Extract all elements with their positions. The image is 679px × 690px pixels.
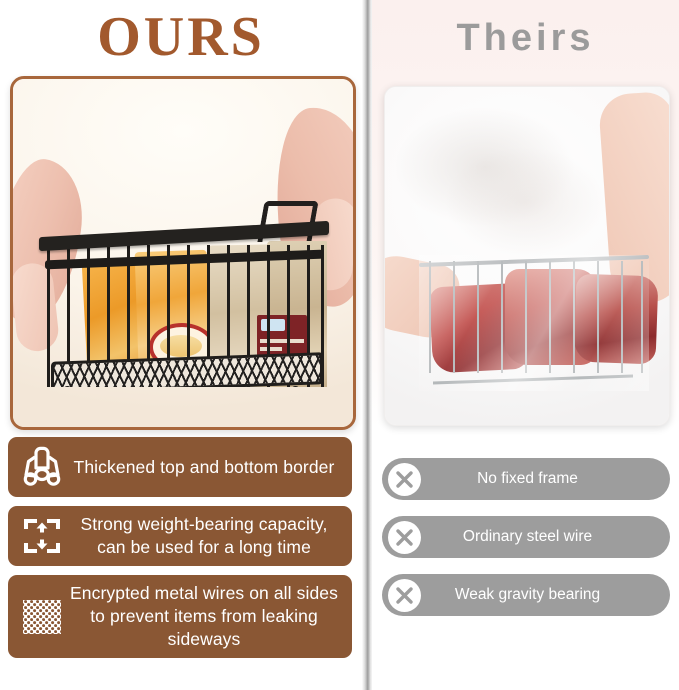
feature-row-thickened-border: Thickened top and bottom border <box>8 437 352 497</box>
plastic-wrap-sheen <box>419 255 649 391</box>
x-circle-icon <box>388 463 421 496</box>
feature-row-weight-bearing: Strong weight-bearing capacity, can be u… <box>8 506 352 566</box>
black-wire-basket <box>39 229 329 397</box>
wire-mesh-icon <box>16 594 68 640</box>
x-circle-icon <box>388 579 421 612</box>
background-blur-2 <box>445 147 605 257</box>
silver-wire-basket <box>419 255 649 391</box>
drawback-row-ordinary-steel-wire: Ordinary steel wire <box>382 516 670 558</box>
feature-label: Thickened top and bottom border <box>68 456 342 479</box>
thick-border-icon <box>16 444 68 490</box>
drawback-row-weak-gravity-bearing: Weak gravity bearing <box>382 574 670 616</box>
feature-row-encrypted-wires: Encrypted metal wires on all sides to pr… <box>8 575 352 658</box>
drawback-label: Ordinary steel wire <box>421 527 660 547</box>
drawback-row-no-fixed-frame: No fixed frame <box>382 458 670 500</box>
comparison-graphic: OURS <box>0 0 679 690</box>
drawback-label: No fixed frame <box>421 469 660 489</box>
x-circle-icon <box>388 521 421 554</box>
theirs-panel: Theirs <box>372 0 679 690</box>
theirs-feature-list: No fixed frame Ordinary steel wire <box>382 458 670 632</box>
theirs-title: Theirs <box>372 14 679 62</box>
ours-title: OURS <box>0 6 362 68</box>
feature-label: Strong weight-bearing capacity, can be u… <box>68 513 342 559</box>
theirs-product-photo <box>384 86 670 426</box>
weight-bearing-icon <box>16 513 68 559</box>
drawback-label: Weak gravity bearing <box>421 585 660 605</box>
ours-panel: OURS <box>0 0 362 690</box>
ours-feature-list: Thickened top and bottom border Strong w… <box>8 437 352 667</box>
feature-label: Encrypted metal wires on all sides to pr… <box>68 582 342 651</box>
ours-product-photo <box>10 76 356 430</box>
